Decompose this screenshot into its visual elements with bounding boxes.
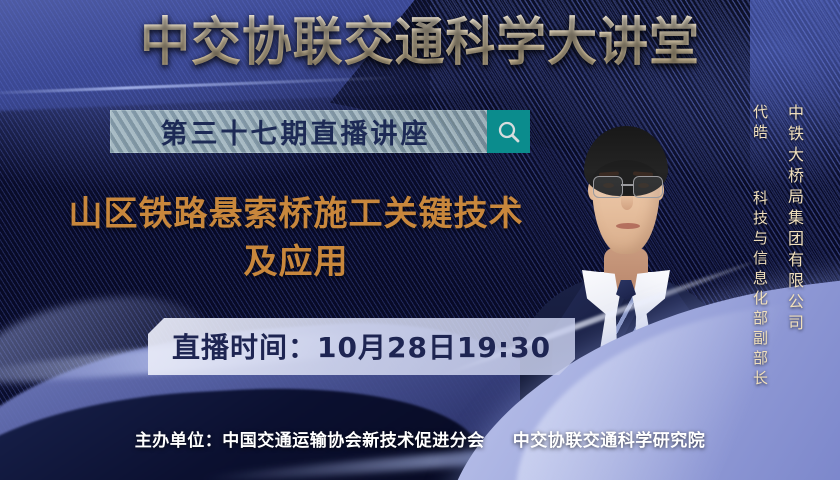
speaker-name-role: 代皓 科技与信息化部副部长 — [750, 104, 770, 390]
glasses-lens-right — [633, 176, 663, 198]
live-stream-poster: 中交协联交通科学大讲堂 第三十七期直播讲座 山区铁路悬索桥施工关键技术 及应用 … — [0, 0, 840, 480]
portrait-nose — [621, 194, 633, 210]
brand-title: 中交协联交通科学大讲堂 — [17, 12, 823, 74]
session-label: 第三十七期直播讲座 — [110, 112, 487, 151]
glasses-bridge — [621, 184, 633, 186]
footer-prefix: 主办单位： — [135, 431, 223, 451]
session-banner: 第三十七期直播讲座 — [110, 110, 530, 153]
lecture-title: 山区铁路悬索桥施工关键技术 及应用 — [26, 190, 566, 286]
footer-org-1: 中国交通运输协会新技术促进分会 — [222, 431, 485, 451]
search-icon[interactable] — [487, 110, 530, 153]
broadcast-time-badge: 直播时间：10月28日19:30 — [148, 318, 575, 375]
portrait-mouth — [616, 223, 640, 229]
broadcast-time-text: 直播时间：10月28日19:30 — [172, 331, 551, 364]
footer-org-2: 中交协联交通科学研究院 — [513, 431, 706, 451]
speaker-info: 代皓 科技与信息化部副部长 中铁大桥局集团有限公司 — [750, 104, 804, 390]
lecture-title-line1: 山区铁路悬索桥施工关键技术 — [69, 194, 524, 234]
speaker-organization: 中铁大桥局集团有限公司 — [784, 104, 804, 335]
footer-organizers: 主办单位：中国交通运输协会新技术促进分会中交协联交通科学研究院 — [0, 426, 840, 451]
lecture-title-line2: 及应用 — [26, 238, 566, 286]
glasses-lens-left — [593, 176, 623, 198]
